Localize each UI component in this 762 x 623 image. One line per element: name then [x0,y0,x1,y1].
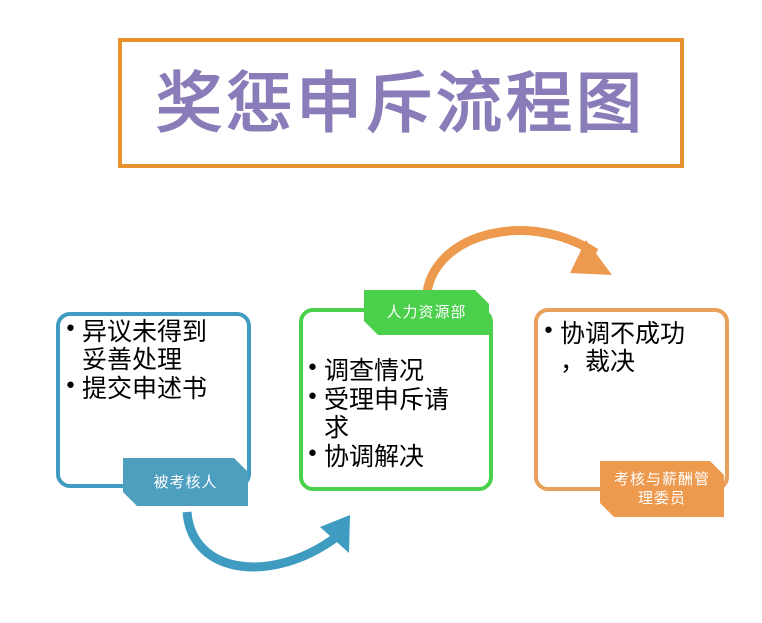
role-tab-label: 被考核人 [153,473,217,492]
bullet-list-hr: 调查情况 受理申斥请 求 协调解决 [306,357,498,472]
list-item: 协调不成功 ，裁决 [542,320,734,376]
bullet-list-committee: 协调不成功 ，裁决 [542,320,734,377]
list-item: 调查情况 [306,357,498,385]
role-tab-label: 人力资源部 [386,303,466,322]
role-tab-committee[interactable]: 考核与薪酬管 理委员 [600,461,724,517]
list-item: 异议未得到 妥善处理 [64,318,254,374]
arrow-employee-to-hr [187,512,350,567]
page-title: 奖惩申斥流程图 [122,42,680,164]
flowchart-canvas: 奖惩申斥流程图 异议未得到 妥善处理 提交申述书 被考核人 调查情况 受理申斥请… [0,0,762,623]
list-item: 协调解决 [306,443,498,471]
arrow-hr-to-committee [427,231,612,292]
role-tab-employee[interactable]: 被考核人 [123,458,248,506]
list-item: 受理申斥请 求 [306,386,498,442]
title-frame: 奖惩申斥流程图 [118,38,684,168]
role-tab-label: 考核与薪酬管 理委员 [614,470,710,508]
role-tab-hr[interactable]: 人力资源部 [364,290,489,335]
list-item: 提交申述书 [64,375,254,403]
bullet-list-employee: 异议未得到 妥善处理 提交申述书 [64,318,254,404]
